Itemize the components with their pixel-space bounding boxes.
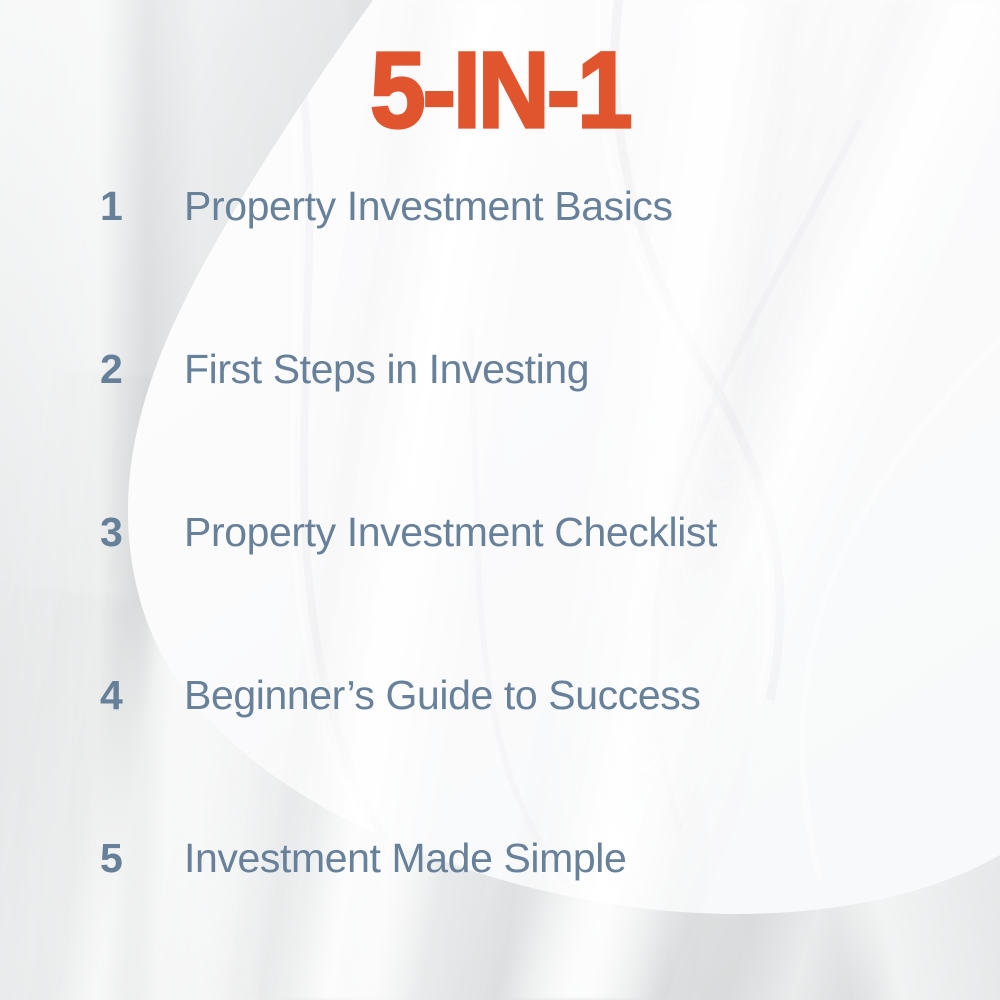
list-item: 5 Investment Made Simple	[0, 835, 1000, 998]
list-item-number: 3	[100, 509, 184, 556]
list-item-label: Investment Made Simple	[184, 835, 1000, 882]
list-item-number: 4	[100, 672, 184, 719]
page-title: 5-IN-1	[40, 36, 960, 144]
poster-canvas: 5-IN-1 1 Property Investment Basics 2 Fi…	[0, 0, 1000, 1000]
list-item: 4 Beginner’s Guide to Success	[0, 672, 1000, 835]
course-list: 1 Property Investment Basics 2 First Ste…	[0, 183, 1000, 998]
list-item-label: First Steps in Investing	[184, 346, 1000, 393]
list-item: 3 Property Investment Checklist	[0, 509, 1000, 672]
list-item-number: 1	[100, 183, 184, 230]
list-item-number: 5	[100, 835, 184, 882]
list-item-label: Property Investment Basics	[184, 183, 1000, 230]
list-item: 1 Property Investment Basics	[0, 183, 1000, 346]
list-item-label: Property Investment Checklist	[184, 509, 1000, 556]
poster-content: 5-IN-1 1 Property Investment Basics 2 Fi…	[0, 0, 1000, 1000]
list-item: 2 First Steps in Investing	[0, 346, 1000, 509]
list-item-label: Beginner’s Guide to Success	[184, 672, 1000, 719]
list-item-number: 2	[100, 346, 184, 393]
